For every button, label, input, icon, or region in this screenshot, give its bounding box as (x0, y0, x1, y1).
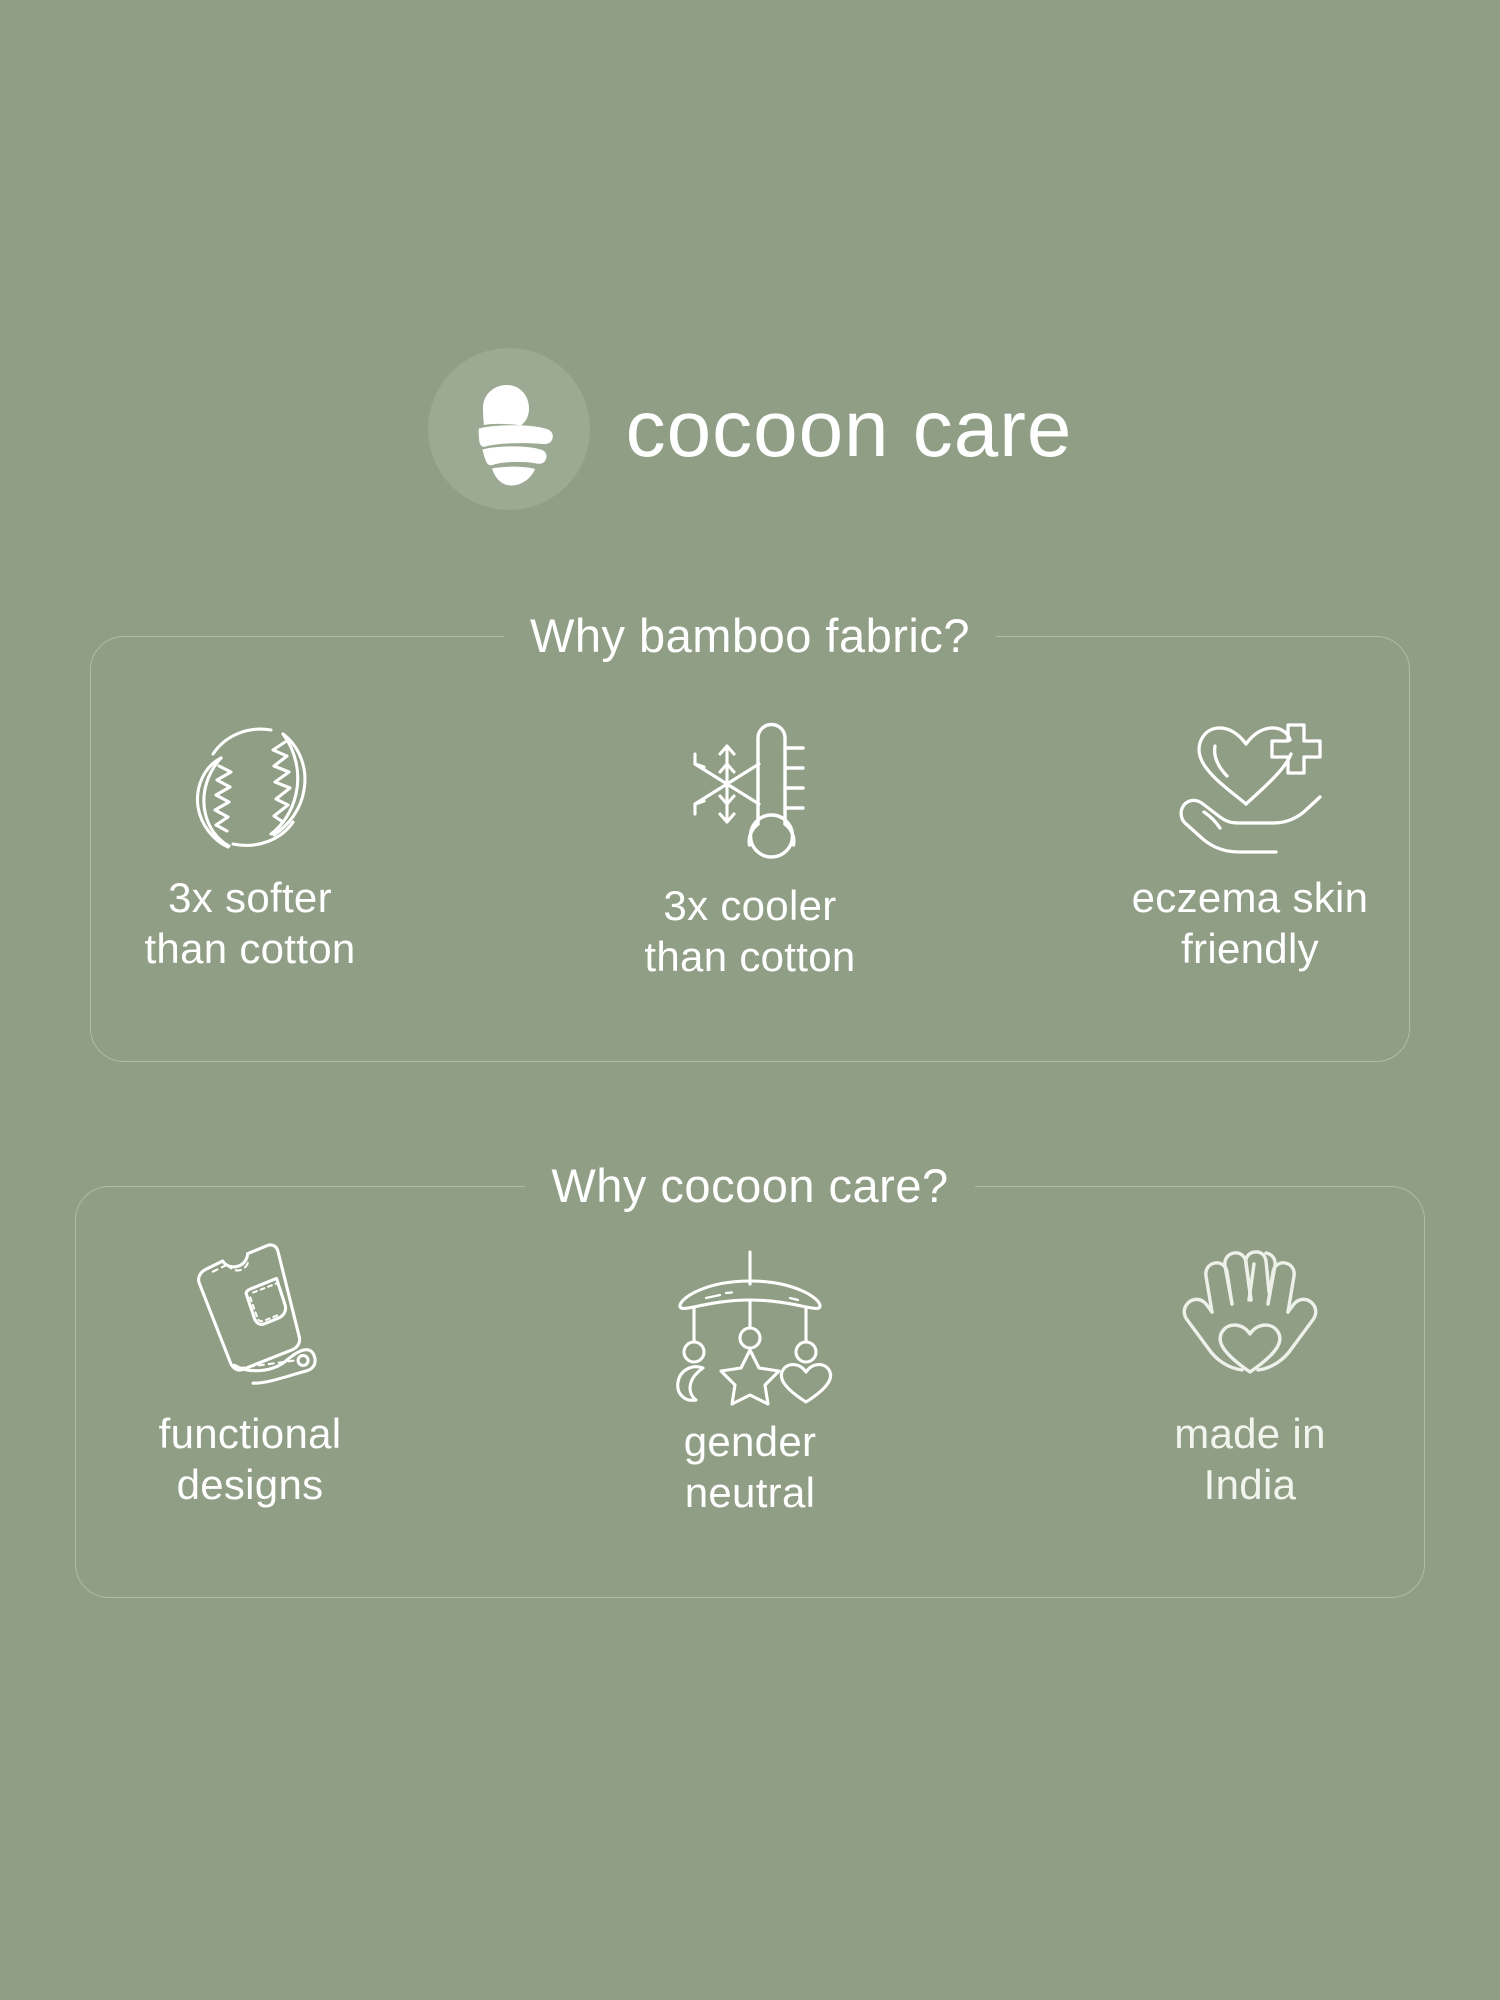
thermometer-snowflake-icon (675, 720, 825, 860)
cocoon-stacked-waves-mark-icon (428, 348, 590, 510)
hand-heart-medical-cross-icon (1170, 712, 1330, 852)
section-heading-cocoon-care: Why cocoon care? (0, 1162, 1500, 1209)
section-heading-bamboo: Why bamboo fabric? (0, 612, 1500, 659)
two-feathers-icon (175, 712, 325, 852)
baby-onesie-icon (175, 1242, 325, 1392)
brand-header: cocoon care (0, 348, 1500, 510)
brand-name: cocoon care (626, 389, 1073, 469)
feature-eczema-skin-friendly-label: eczema skin friendly (1132, 872, 1369, 974)
feature-eczema-skin-friendly: eczema skin friendly (1000, 712, 1500, 974)
feature-gender-neutral-label: gender neutral (684, 1416, 817, 1518)
feature-3x-cooler-label: 3x cooler than cotton (644, 880, 855, 982)
section-heading-bamboo-text: Why bamboo fabric? (504, 612, 996, 659)
cocoon-care-feature-row: functional designs (0, 1242, 1500, 1510)
baby-mobile-icon (670, 1250, 830, 1400)
bamboo-feature-row: 3x softer than cotton (0, 712, 1500, 974)
feature-gender-neutral: gender neutral (500, 1250, 1000, 1518)
section-heading-cocoon-care-text: Why cocoon care? (525, 1162, 974, 1209)
feature-functional-designs: functional designs (0, 1242, 500, 1510)
poster-canvas: cocoon care Why bamboo fabric? (0, 0, 1500, 2000)
feature-made-in-india: made in India (1000, 1242, 1500, 1510)
feature-3x-softer-label: 3x softer than cotton (144, 872, 355, 974)
feature-3x-softer: 3x softer than cotton (0, 712, 500, 974)
feature-3x-cooler: 3x cooler than cotton (500, 720, 1000, 982)
feature-functional-designs-label: functional designs (159, 1408, 342, 1510)
feature-made-in-india-label: made in India (1174, 1408, 1326, 1510)
two-hands-heart-icon (1170, 1242, 1330, 1392)
